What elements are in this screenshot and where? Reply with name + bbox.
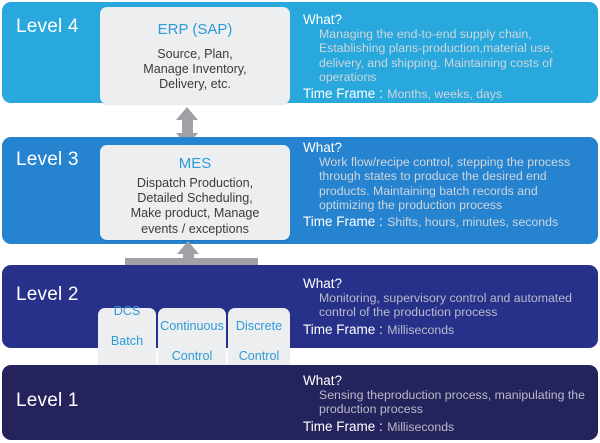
erp-card-body: Source, Plan, Manage Inventory, Delivery… (100, 47, 290, 93)
level-1-label: Level 1 (16, 390, 79, 412)
dcs-line-2: Batch (107, 334, 148, 349)
level-1-timeframe-value: Milliseconds (387, 420, 454, 434)
level-1-what-heading: What? (303, 373, 593, 388)
level-3-what-heading: What? (303, 140, 593, 155)
mes-card-body: Dispatch Production, Detailed Scheduling… (100, 176, 290, 237)
dcs-line-1: DCS (107, 304, 148, 319)
mes-card-title: MES (100, 155, 290, 173)
level-4-label: Level 4 (16, 16, 79, 38)
level-2-label: Level 2 (16, 284, 79, 306)
level-2-what-body: Monitoring, supervisory control and auto… (319, 291, 593, 320)
arrow-shaft (182, 119, 193, 134)
mes-card[interactable]: MES Dispatch Production, Detailed Schedu… (100, 145, 290, 240)
level-3-info: What? Work flow/recipe control, stepping… (303, 140, 593, 231)
level-3-timeframe: Time Frame : Shifts, hours, minutes, sec… (303, 213, 593, 231)
level-3-timeframe-value: Shifts, hours, minutes, seconds (387, 215, 558, 229)
discrete-control-label: DiscreteControl (236, 319, 282, 364)
level-4-what-body: Managing the end-to-end supply chain, Es… (319, 27, 593, 84)
continuous-control-label: ContinuousControl (160, 319, 224, 364)
level-1-what-body: Sensing theproduction process, manipulat… (319, 388, 593, 417)
level-3-timeframe-label: Time Frame : (303, 214, 383, 229)
level-2-what-heading: What? (303, 276, 593, 291)
level-3-label: Level 3 (16, 149, 79, 171)
level-2-timeframe-label: Time Frame : (303, 322, 383, 337)
discrete-line-2: Control (236, 349, 282, 364)
continuous-line-1: Continuous (160, 319, 224, 334)
diagram-canvas: Level 4 ERP (SAP) Source, Plan, Manage I… (0, 0, 600, 443)
level-4-timeframe-value: Months, weeks, days (387, 87, 502, 101)
level-4-info: What? Managing the end-to-end supply cha… (303, 12, 593, 103)
level-4-timeframe-label: Time Frame : (303, 86, 383, 101)
erp-card[interactable]: ERP (SAP) Source, Plan, Manage Inventory… (100, 7, 290, 104)
level-3-what-body: Work flow/recipe control, stepping the p… (319, 155, 593, 212)
level-2-info: What? Monitoring, supervisory control an… (303, 276, 593, 339)
level-4-timeframe: Time Frame : Months, weeks, days (303, 85, 593, 103)
level-1-timeframe-label: Time Frame : (303, 419, 383, 434)
continuous-line-2: Control (160, 349, 224, 364)
level-2-timeframe: Time Frame : Milliseconds (303, 321, 593, 339)
erp-card-title: ERP (SAP) (100, 21, 290, 39)
discrete-line-1: Discrete (236, 319, 282, 334)
level-2-timeframe-value: Milliseconds (387, 323, 454, 337)
level-1-timeframe: Time Frame : Milliseconds (303, 418, 593, 436)
level-4-what-heading: What? (303, 12, 593, 27)
level-1-info: What? Sensing theproduction process, man… (303, 373, 593, 436)
